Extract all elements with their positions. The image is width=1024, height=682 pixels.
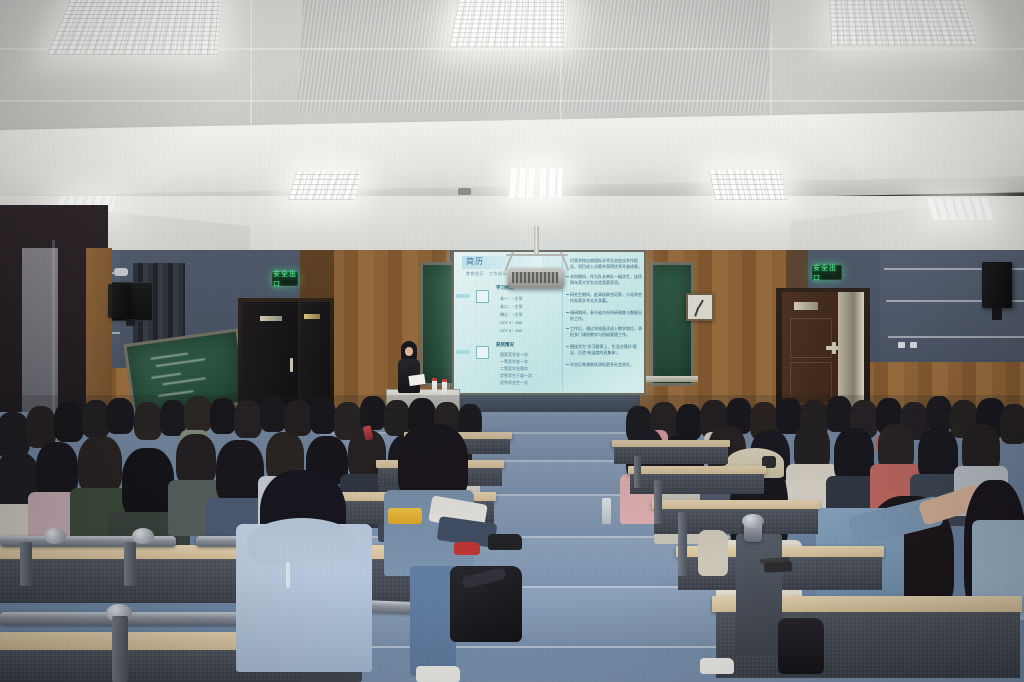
tote-bag [698,530,728,576]
shoe [700,658,734,674]
light-panel-2 [449,0,565,47]
light-panel-5 [509,168,535,198]
light-panel-7 [709,170,787,200]
desk-row [612,440,732,466]
slide-subtitle: 教育经历 · 工作经历 [466,271,507,277]
desk-post [634,456,641,488]
slide-bullet: 优秀毕业生一次 [500,380,528,386]
student-legs-aisle [430,490,540,570]
speaker-left-wall [108,284,130,318]
ceiling-spotlight-left [114,268,128,276]
chalkboard-front-right [650,262,694,386]
slide-title: 简历 [466,256,484,267]
lecture-hall-photo: 简历 教育经历 · 工作经历 学习经历 本一：··大学 本二：··大学 博士：·… [0,0,1024,682]
wall-socket-2 [910,342,917,348]
snack-bag [388,508,422,524]
slide-bullet: 优秀学生干部一次 [500,373,532,379]
slide-icon-box-1 [476,290,489,303]
slide-section-2-heading: 获奖情况 [496,342,514,348]
desk-row [628,466,768,496]
desk-post [112,616,128,682]
ceiling-mounted-projector [508,268,564,288]
exit-sign-text: 安全出口 [273,269,297,289]
slide-paragraph: 工作后，通过学校面试进入教学岗位，承担多门课程教学与班级管理工作。 [570,326,644,340]
speaker-right-wall [982,262,1012,308]
light-panel-8 [927,198,995,220]
shoe [416,666,460,682]
slide-bullet: 二等奖学金两次 [500,366,528,372]
hoodie-hood [248,518,356,566]
door-left-handle[interactable] [290,358,293,372]
chalkboard-rail [640,376,698,382]
monitor-stand [126,319,135,326]
phone-on-desk [764,561,792,572]
slide-bullet: 博士：··大学 [500,312,523,318]
door-left-sign [304,314,320,319]
slide-icon-box-2 [476,346,489,359]
slide-paragraph: 毕业后希望继续承担更多社会责任。 [570,362,644,372]
light-panel-6 [539,168,562,198]
desk-post [124,542,136,586]
exit-sign-right: 安全出口 [812,265,842,280]
wall-socket [898,342,905,348]
slide-bullet: 国家奖学金一次 [500,352,528,358]
wall-light-strip-left [22,248,58,413]
shoe [454,542,480,555]
slide-bullet: CET 4：585 [500,320,522,326]
desk-post [20,542,32,586]
slide-paragraph: 研究生期间，赴高校联合培养，与导师合作发表学术论文多篇。 [570,292,644,306]
presenter-face [405,347,413,356]
projector-mount-pole [534,226,539,254]
slide-paragraph: 调研期间，参与省内外科研调查与数据分析工作。 [570,310,644,322]
desk-post [654,480,662,524]
exit-sign-text: 安全出口 [813,263,841,283]
slide-bullet: 本二：··大学 [500,304,523,310]
slide-paragraph: 本科期间，作为队长带队一级学生，连续两年获大学生实验竞赛奖项。 [570,274,644,288]
light-panel-1 [47,0,222,55]
smoke-detector-icon [458,188,471,195]
water-bottle-aisle [602,498,611,524]
slide-paragraph: 代表学校出席国际学术交流会议并作报告，项目进入决赛并获得优秀开放成果。 [570,258,644,272]
exit-sign-left: 安全出口 [272,272,298,286]
slide-bullet: 本一：··大学 [500,296,523,302]
seat-back [736,534,782,654]
slide-paragraph: 围绕学生“学习跟得上、生活过得好”理念，打造“有温度的班集体”。 [570,344,644,358]
slide-bullet: CET 6：560 [500,328,522,334]
presenter [396,341,422,397]
wall-clock [686,293,714,321]
door-right-window [794,302,818,310]
desk-post [678,512,687,576]
speaker-right-bracket [992,308,1002,320]
hoodie-drawstring [286,562,290,588]
slide-bullet: 一等奖学金一次 [500,359,528,365]
light-panel-3 [829,0,979,45]
light-panel-4 [288,172,362,200]
door-left-window [260,316,282,321]
shoe [488,534,522,550]
bag-dark [778,618,824,674]
